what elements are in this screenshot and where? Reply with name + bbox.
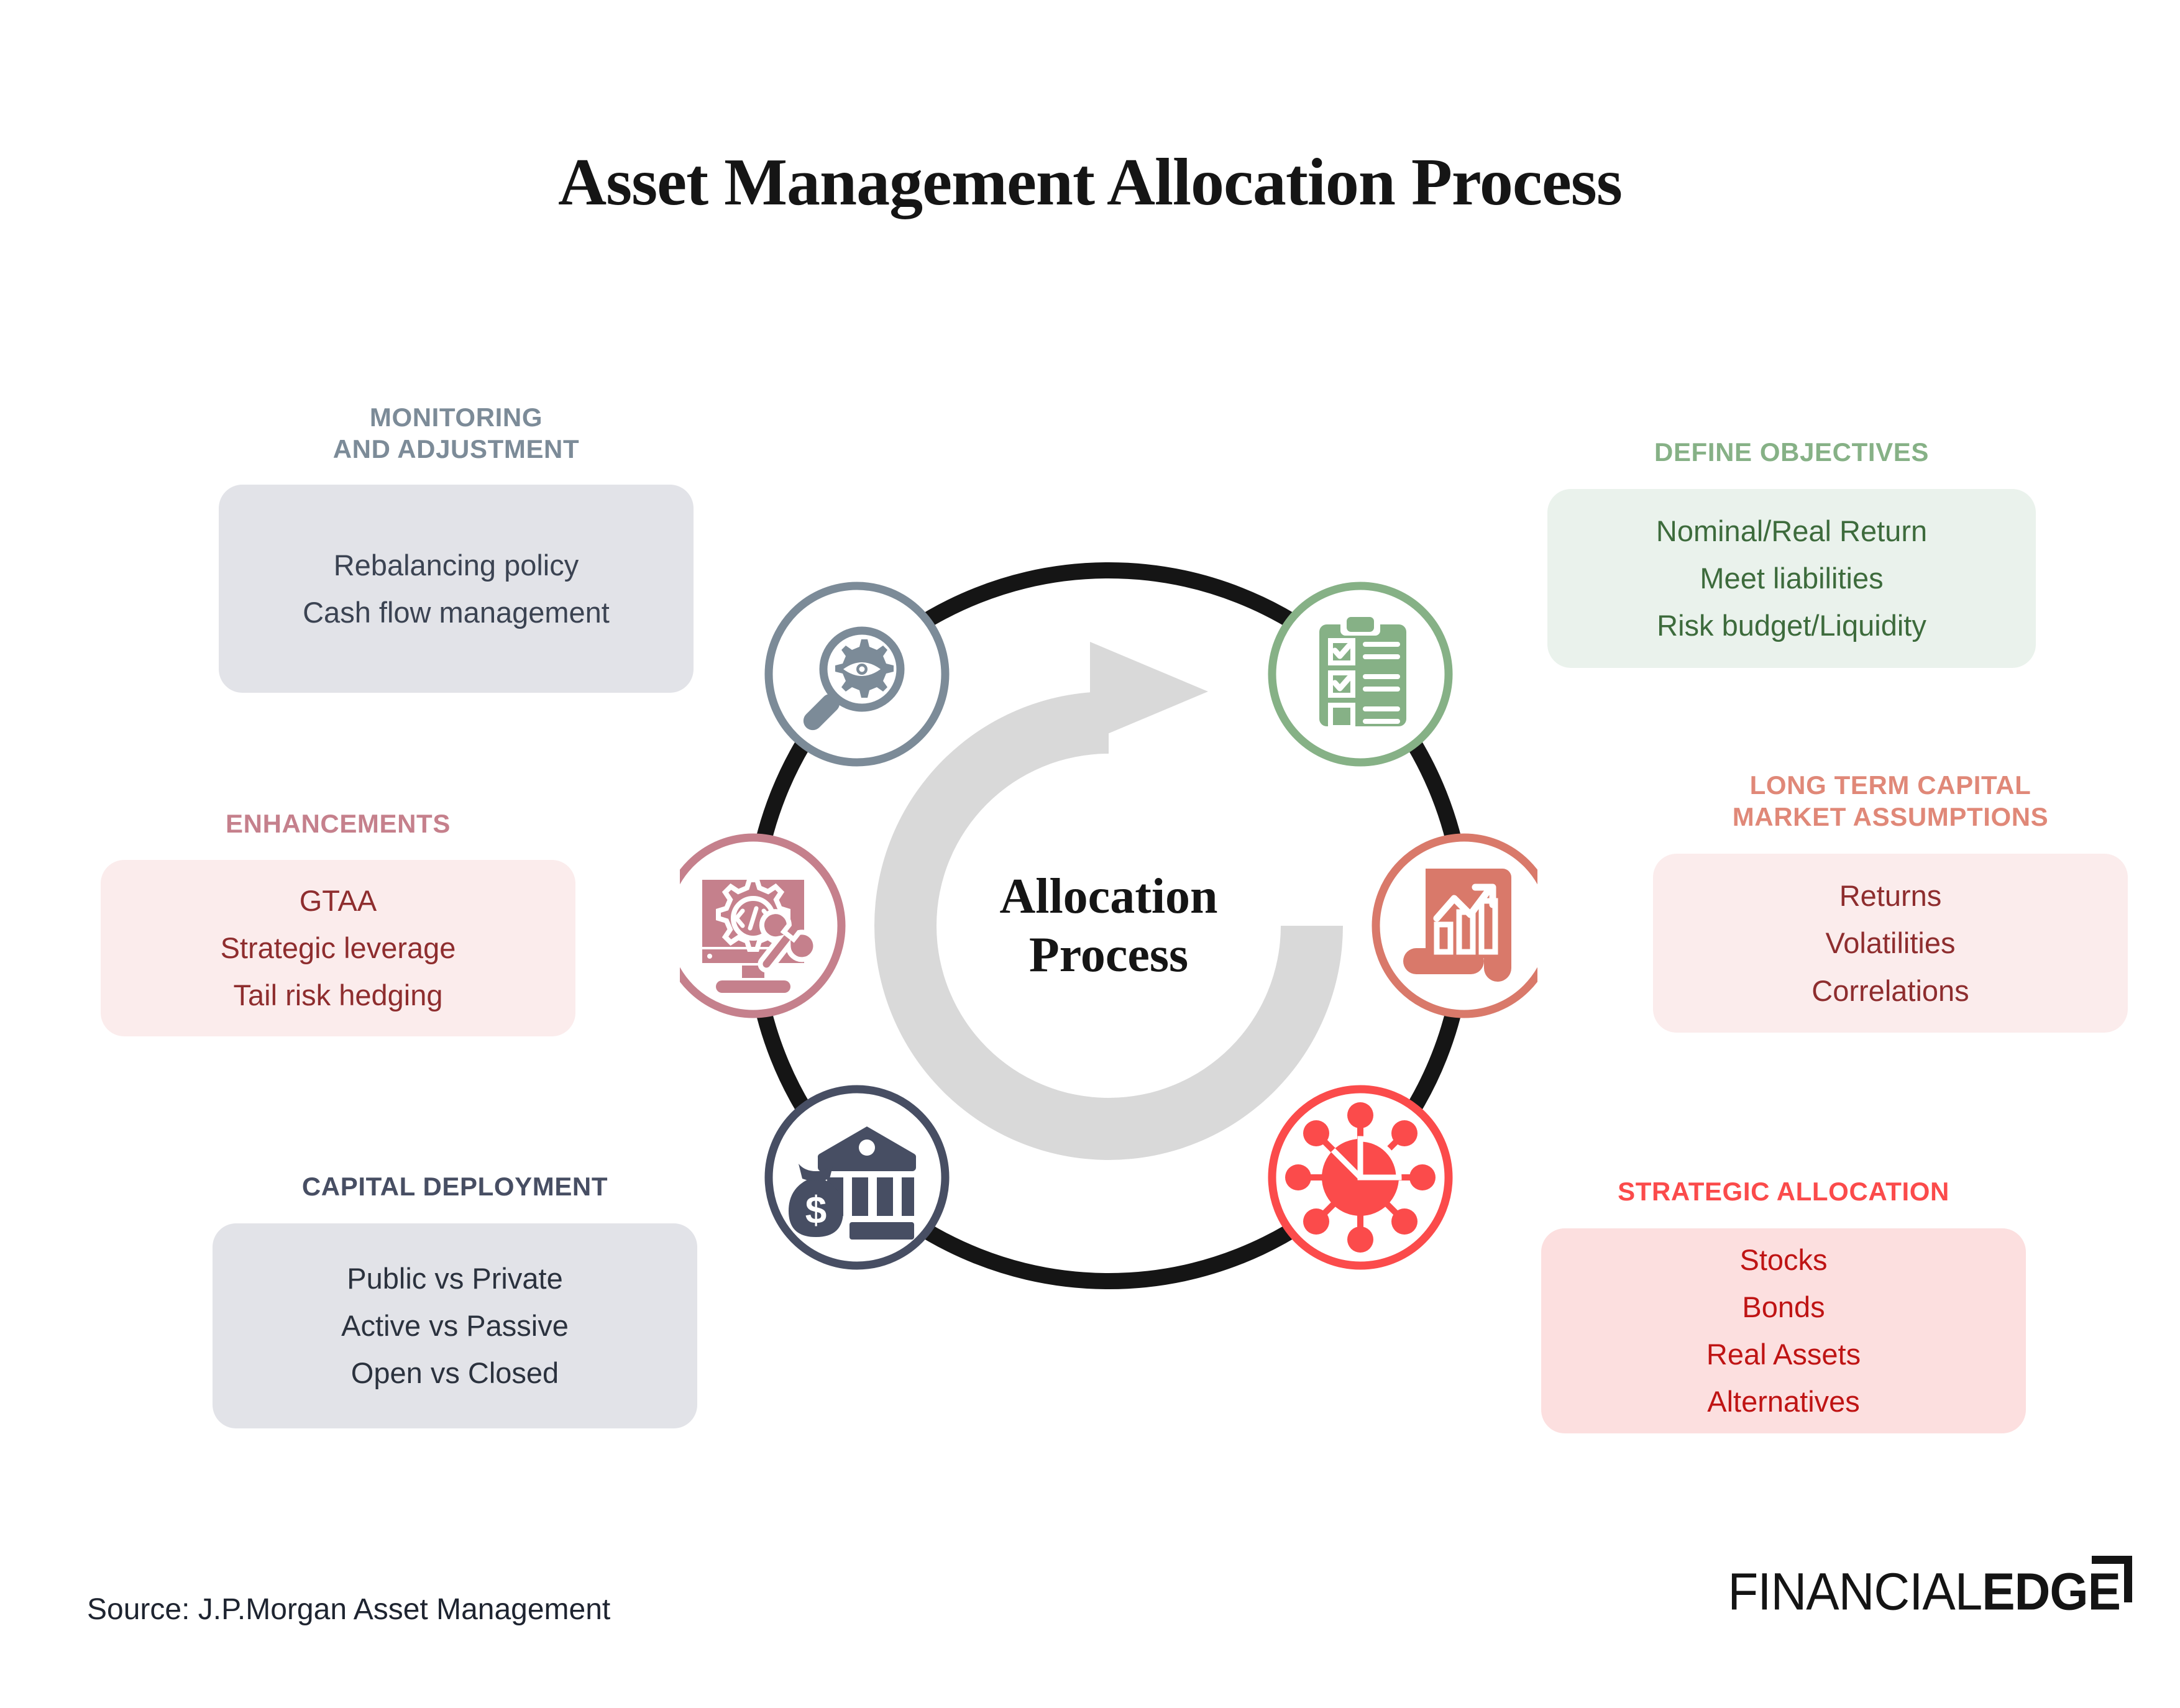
svg-text:$: $ (805, 1189, 827, 1232)
panel-box-monitoring: Rebalancing policy Cash flow management (219, 485, 694, 693)
panel-long-term-capital-market-assumptions: LONG TERM CAPITAL MARKET ASSUMPTIONS Ret… (1653, 769, 2128, 1033)
panel-label-strategic-allocation: STRATEGIC ALLOCATION (1541, 1176, 2026, 1207)
cycle-arrow-icon (874, 642, 1343, 1160)
allocation-process-cycle-diagram: $ (680, 497, 1537, 1354)
panel-label-define-objectives: DEFINE OBJECTIVES (1547, 436, 2036, 468)
node-capital-deployment[interactable]: $ (769, 1089, 945, 1266)
panel-box-enhancements: GTAA Strategic leverage Tail risk hedgin… (101, 860, 575, 1036)
pie-chart-network-icon (1285, 1102, 1436, 1253)
panel-items-capital-deployment: Public vs Private Active vs Passive Open… (341, 1255, 569, 1397)
node-define-objectives[interactable] (1272, 586, 1449, 762)
panel-label-enhancements: ENHANCEMENTS (101, 808, 575, 839)
panel-monitoring-and-adjustment: MONITORING AND ADJUSTMENT Rebalancing po… (219, 401, 694, 693)
panel-items-strategic-allocation: Stocks Bonds Real Assets Alternatives (1706, 1236, 1861, 1426)
node-long-term-capital-market-assumptions[interactable] (1376, 838, 1537, 1014)
node-monitoring-and-adjustment[interactable] (769, 586, 945, 762)
panel-box-strategic-allocation: Stocks Bonds Real Assets Alternatives (1541, 1228, 2026, 1433)
panel-items-ltcma: Returns Volatilities Correlations (1811, 872, 1969, 1014)
panel-box-define-objectives: Nominal/Real Return Meet liabilities Ris… (1547, 489, 2036, 668)
panel-items-define-objectives: Nominal/Real Return Meet liabilities Ris… (1656, 508, 1927, 649)
panel-items-monitoring: Rebalancing policy Cash flow management (303, 542, 610, 636)
node-enhancements[interactable] (680, 838, 841, 1014)
panel-capital-deployment: CAPITAL DEPLOYMENT Public vs Private Act… (213, 1171, 697, 1428)
panel-define-objectives: DEFINE OBJECTIVES Nominal/Real Return Me… (1547, 436, 2036, 668)
panel-enhancements: ENHANCEMENTS GTAA Strategic leverage Tai… (101, 808, 575, 1036)
panel-label-monitoring: MONITORING AND ADJUSTMENT (219, 401, 694, 465)
brand-logo-financial-edge: FINANCIAL EDGE (1728, 1555, 2120, 1629)
node-strategic-allocation[interactable] (1272, 1089, 1449, 1266)
panel-strategic-allocation: STRATEGIC ALLOCATION Stocks Bonds Real A… (1541, 1176, 2026, 1433)
source-note: Source: J.P.Morgan Asset Management (87, 1592, 610, 1627)
panel-box-ltcma: Returns Volatilities Correlations (1653, 854, 2128, 1033)
panel-box-capital-deployment: Public vs Private Active vs Passive Open… (213, 1223, 697, 1428)
brand-logo-thin: FINANCIAL (1728, 1562, 1982, 1622)
panel-label-capital-deployment: CAPITAL DEPLOYMENT (213, 1171, 697, 1202)
page-title: Asset Management Allocation Process (0, 144, 2180, 221)
panel-items-enhancements: GTAA Strategic leverage Tail risk hedgin… (221, 877, 456, 1019)
panel-label-ltcma: LONG TERM CAPITAL MARKET ASSUMPTIONS (1653, 769, 2128, 833)
